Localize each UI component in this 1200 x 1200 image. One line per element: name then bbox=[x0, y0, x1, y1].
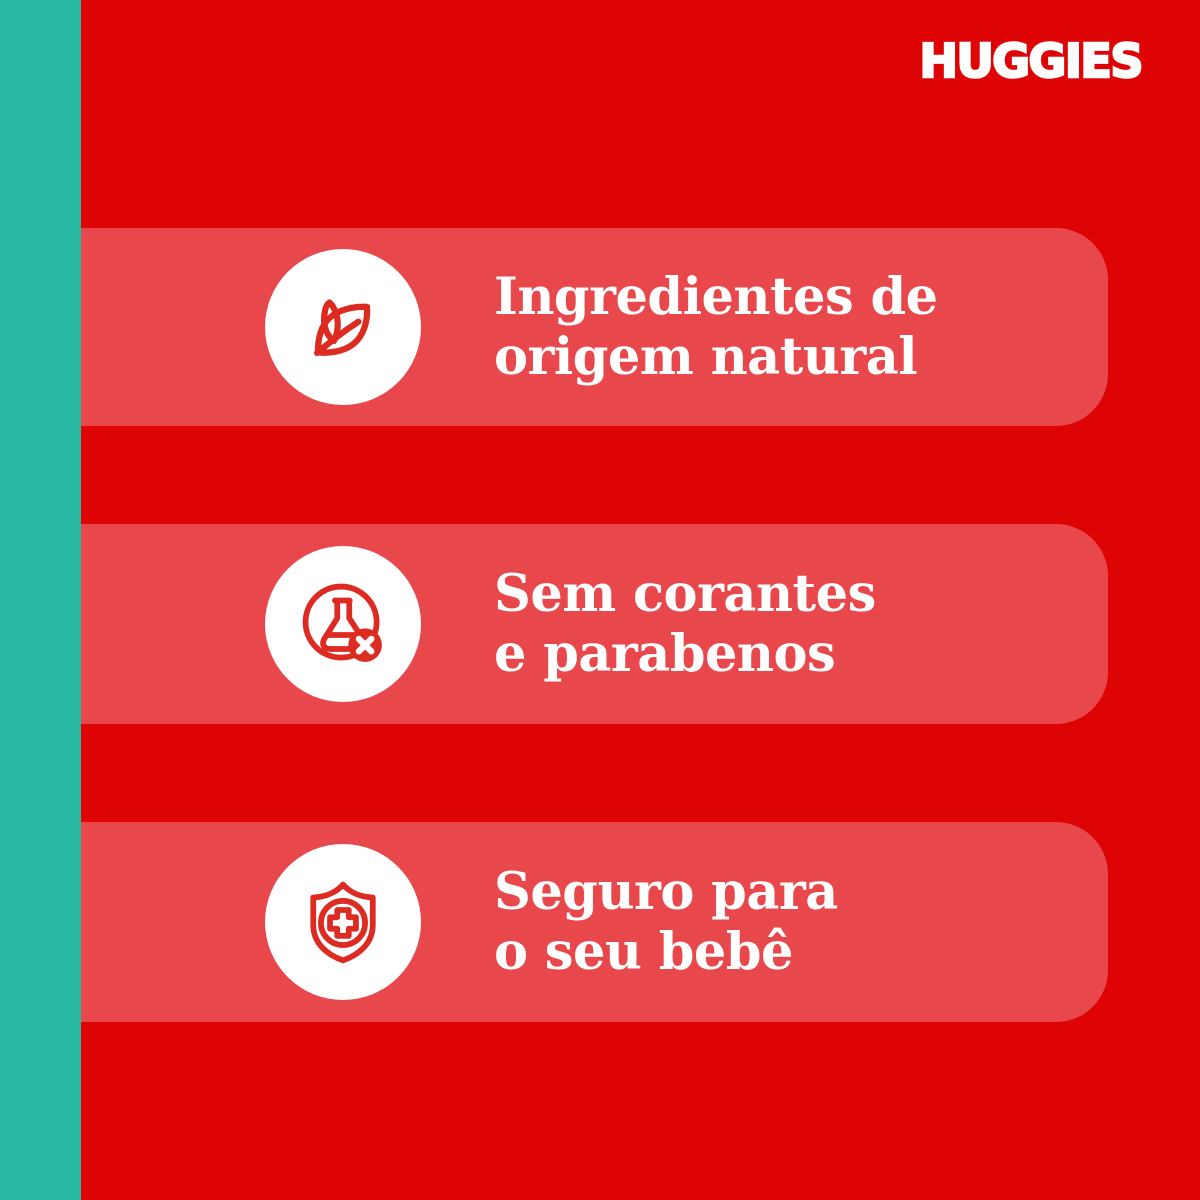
icon-badge-no-chemicals bbox=[265, 546, 421, 702]
feature-line-2: origem natural bbox=[494, 327, 1068, 387]
icon-badge-shield bbox=[265, 844, 421, 1000]
feature-card-no-dyes-parabens: Sem corantes e parabenos bbox=[81, 524, 1108, 724]
shield-medical-cross-icon bbox=[295, 874, 391, 970]
feature-text-no-dyes-parabens: Sem corantes e parabenos bbox=[494, 564, 1068, 684]
teal-accent-stripe bbox=[0, 0, 81, 1200]
feature-line-1: Seguro para bbox=[494, 862, 1068, 922]
feature-line-1: Sem corantes bbox=[494, 564, 1068, 624]
promo-banner: HUGGIES Ingredientes de origem natural bbox=[0, 0, 1200, 1200]
feature-card-safe-for-baby: Seguro para o seu bebê bbox=[81, 822, 1108, 1022]
feature-line-2: e parabenos bbox=[494, 624, 1068, 684]
feature-text-safe-for-baby: Seguro para o seu bebê bbox=[494, 862, 1068, 982]
leaf-icon bbox=[295, 279, 391, 375]
icon-badge-leaf bbox=[265, 249, 421, 405]
feature-line-1: Ingredientes de bbox=[494, 267, 1068, 327]
no-chemicals-flask-icon bbox=[295, 576, 391, 672]
huggies-logo: HUGGIES bbox=[919, 38, 1142, 84]
feature-text-natural-ingredients: Ingredientes de origem natural bbox=[494, 267, 1068, 387]
feature-card-natural-ingredients: Ingredientes de origem natural bbox=[81, 228, 1108, 426]
feature-line-2: o seu bebê bbox=[494, 922, 1068, 982]
